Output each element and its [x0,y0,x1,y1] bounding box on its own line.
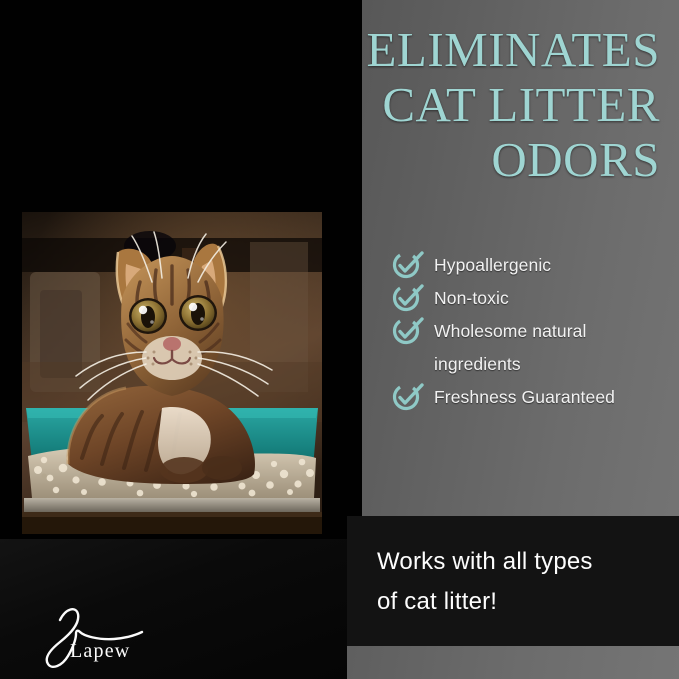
brand-wordmark: Lapew [70,640,130,663]
spacer [391,348,425,378]
product-infographic: ELIMINATES CAT LITTER ODORS [0,0,679,679]
feature-item: Freshness Guaranteed [391,382,679,412]
headline: ELIMINATES CAT LITTER ODORS [286,22,660,187]
check-circle-icon [391,381,425,411]
feature-label: Freshness Guaranteed [434,382,615,412]
headline-line-2: CAT LITTER [286,77,660,132]
headline-line-3: ODORS [286,132,660,187]
feature-label: Non-toxic [434,283,509,313]
feature-label: Hypoallergenic [434,250,551,280]
feature-item: Non-toxic [391,283,679,313]
kitten-litter-box-photo [22,212,322,534]
check-circle-icon [391,282,425,312]
callout-box: Works with all types of cat litter! [347,516,679,646]
brand-logo: Lapew [14,604,194,672]
feature-item-continuation: ingredients [391,349,679,379]
feature-item: Hypoallergenic [391,250,679,280]
headline-line-1: ELIMINATES [286,22,660,77]
feature-list: Hypoallergenic Non-toxic Wholesome natur… [391,250,679,415]
check-circle-icon [391,249,425,279]
callout-line-2: of cat litter! [377,582,679,622]
check-circle-icon [391,315,425,345]
feature-label: ingredients [434,349,521,379]
feature-label: Wholesome natural [434,316,586,346]
callout-line-1: Works with all types [377,542,679,582]
feature-item: Wholesome natural [391,316,679,346]
